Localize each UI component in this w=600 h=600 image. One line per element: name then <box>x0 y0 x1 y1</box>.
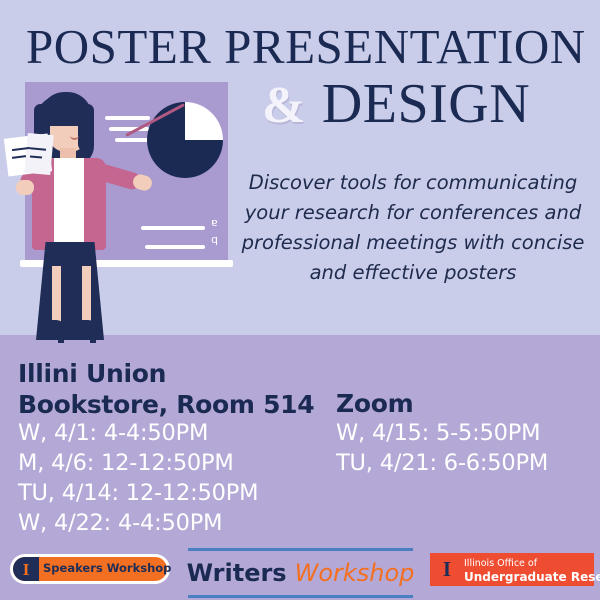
illinois-block-i-icon: I <box>436 557 458 582</box>
logo-writers-word: Writers <box>187 559 287 587</box>
presenter-eyebrow <box>57 117 65 119</box>
handout-paper-right <box>24 133 53 175</box>
session-list-zoom: W, 4/15: 5-5:50PM TU, 4/21: 6-6:50PM <box>336 418 596 478</box>
board-text-line <box>145 245 205 249</box>
logo-writers-workshop[interactable]: Writers Workshop <box>188 548 413 598</box>
venue-heading-illini-union: Illini Union Bookstore, Room 514 <box>18 358 328 420</box>
session-item: W, 4/15: 5-5:50PM <box>336 418 596 448</box>
session-list-illini-union: W, 4/1: 4-4:50PM M, 4/6: 12-12:50PM TU, … <box>18 418 338 538</box>
logo-workshop-word: Workshop <box>295 559 415 587</box>
venue-heading-line2: Bookstore, Room 514 <box>18 389 328 420</box>
venue-heading-line1: Illini Union <box>18 358 328 389</box>
session-item: W, 4/1: 4-4:50PM <box>18 418 338 448</box>
pie-chart-icon <box>147 102 223 178</box>
session-item: TU, 4/14: 12-12:50PM <box>18 478 338 508</box>
venue-heading-zoom: Zoom <box>336 388 586 419</box>
logo-speakers-workshop[interactable]: I Speakers Workshop <box>10 554 170 584</box>
session-item: TU, 4/21: 6-6:50PM <box>336 448 596 478</box>
presenter-hair-right <box>78 104 94 152</box>
presenter-hand-left <box>16 180 34 195</box>
block-i-glyph: I <box>23 561 30 578</box>
block-i-glyph: I <box>443 559 451 580</box>
presenter-shoe-heel <box>90 333 96 343</box>
poster-subtitle: Discover tools for communicating your re… <box>232 168 594 288</box>
logo-speakers-workshop-pill: I Speakers Workshop <box>13 557 167 581</box>
board-glyph-b: b <box>211 234 218 247</box>
presenter-leg <box>52 266 61 326</box>
session-item: W, 4/22: 4-4:50PM <box>18 508 338 538</box>
page-title-line2-group: &DESIGN <box>262 74 600 136</box>
poster-canvas: POSTER PRESENTATION &DESIGN Discover too… <box>0 0 600 600</box>
logo-undergraduate-research[interactable]: I Illinois Office of Undergraduate Resea… <box>430 553 594 586</box>
board-text-line <box>141 226 205 230</box>
presenter-eyebrow <box>73 117 81 119</box>
ampersand-glyph: & <box>262 77 306 134</box>
logo-undergraduate-research-line2: Undergraduate Research <box>464 570 600 584</box>
presenter-leg <box>82 266 91 326</box>
page-title-design: DESIGN <box>322 73 530 135</box>
board-glyph-a: a <box>211 217 218 230</box>
presenter-shoe-heel <box>58 333 64 343</box>
board-text-line <box>105 116 150 120</box>
logo-undergraduate-research-line1: Illinois Office of <box>464 558 537 569</box>
page-title-line1: POSTER PRESENTATION <box>26 21 586 73</box>
session-item: M, 4/6: 12-12:50PM <box>18 448 338 478</box>
presenter-eye <box>58 122 65 124</box>
illinois-block-i-icon: I <box>13 557 39 581</box>
presenter-illustration: a b <box>0 70 235 360</box>
logo-speakers-workshop-label: Speakers Workshop <box>43 561 171 575</box>
presenter-eye <box>74 122 81 124</box>
board-text-line <box>115 138 149 142</box>
